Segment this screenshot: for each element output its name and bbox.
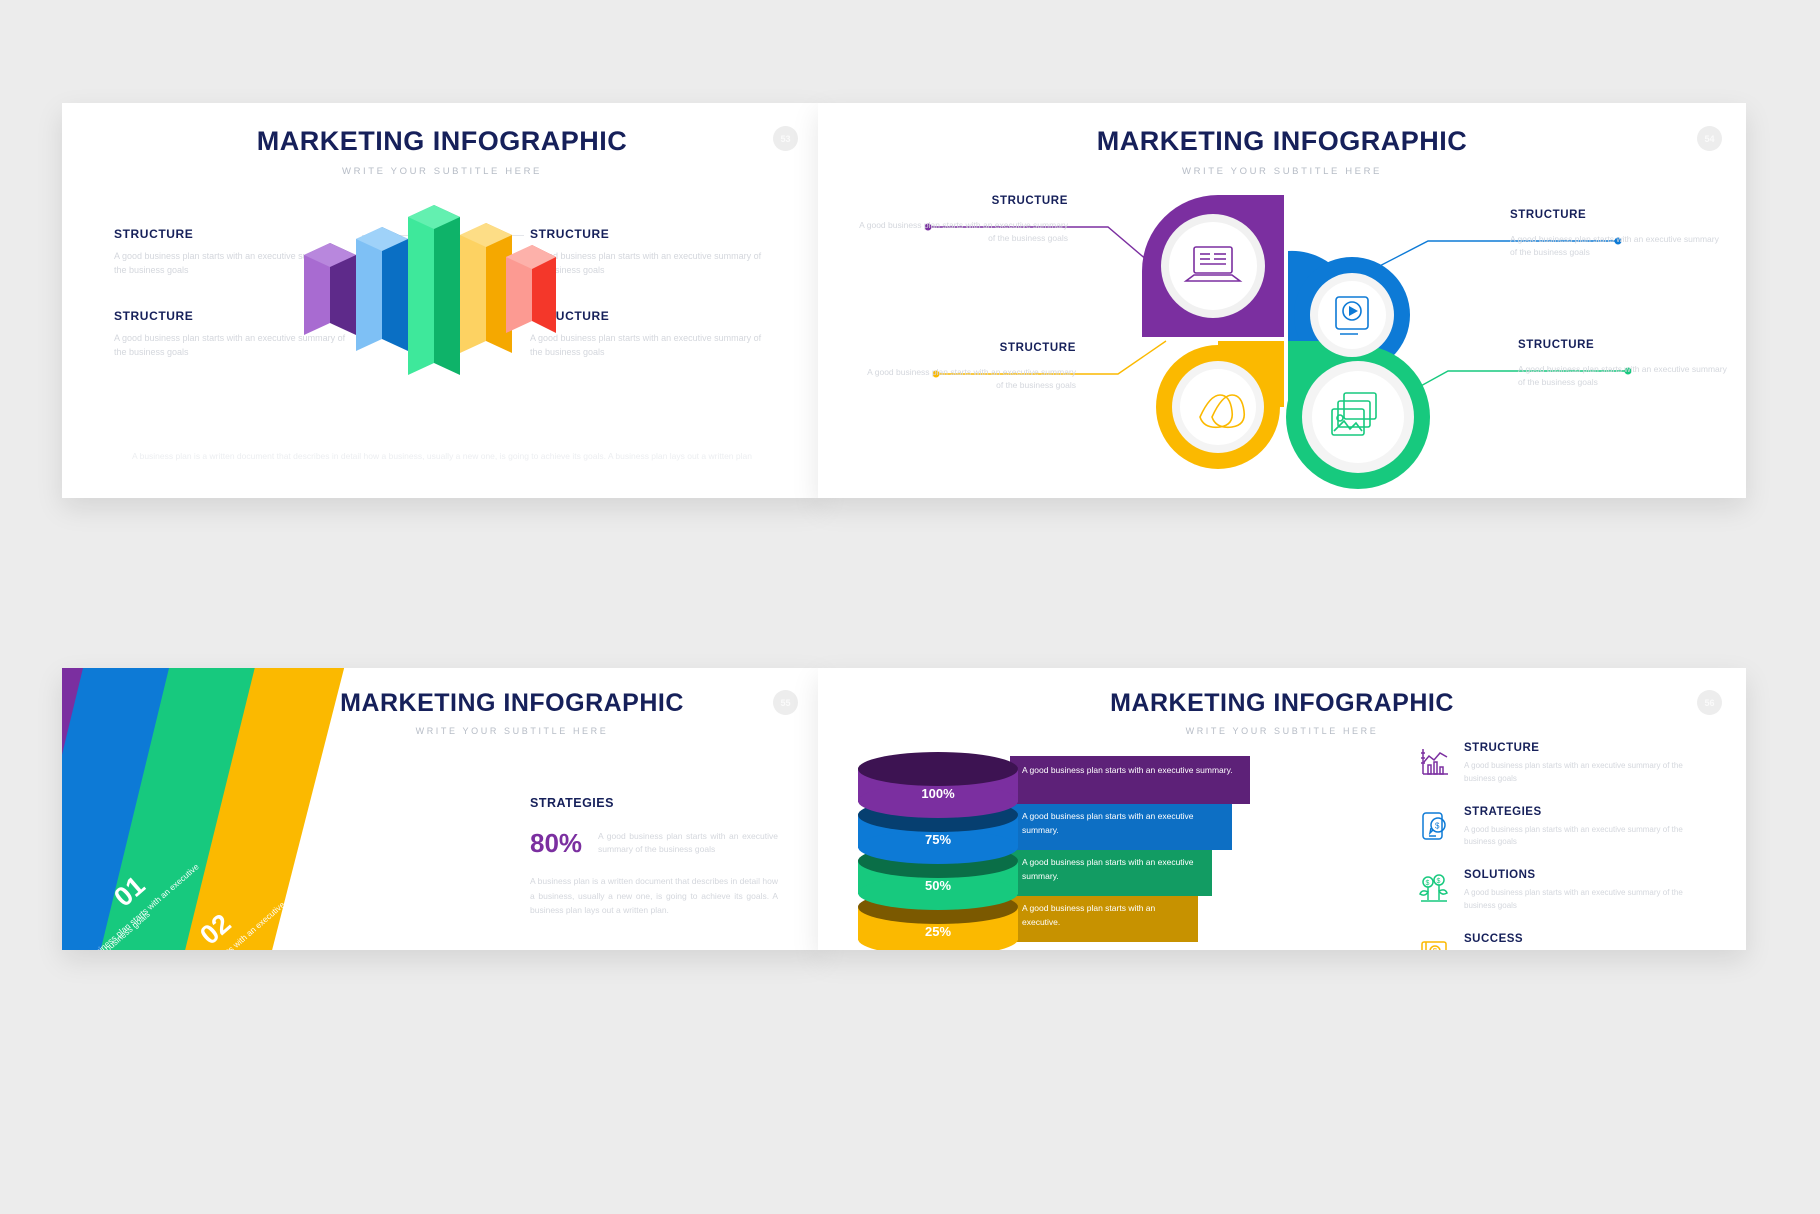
gear-diagram: STRUCTURE A good business plan starts wi… [818, 189, 1746, 498]
gear-item-3[interactable]: STRUCTURE A good business plan starts wi… [858, 342, 1076, 392]
page-title: MARKETING INFOGRAPHIC [818, 689, 1746, 718]
page-subtitle: WRITE YOUR SUBTITLE HERE [818, 166, 1746, 177]
page-number-badge: 55 [773, 690, 798, 715]
percent-value: 80% [530, 830, 582, 856]
svg-text:$: $ [1433, 947, 1438, 950]
page-title: MARKETING INFOGRAPHIC [818, 126, 1746, 157]
svg-text:$: $ [1426, 880, 1430, 887]
gear-item-1[interactable]: STRUCTURE A good business plan starts wi… [850, 195, 1068, 245]
slide-1-footer: A business plan is a written document th… [107, 451, 777, 461]
feature-item-structure[interactable]: STRUCTURE A good business plan starts wi… [1418, 742, 1708, 786]
diagonal-ribbons: 01 02 03 A good business plan starts wit… [62, 668, 502, 950]
page-number-badge: 53 [773, 126, 798, 151]
gear-item-3-label: STRUCTURE [858, 342, 1076, 354]
page-title: MARKETING INFOGRAPHIC [62, 126, 822, 157]
slide-gallery: MARKETING INFOGRAPHIC WRITE YOUR SUBTITL… [0, 0, 1820, 1214]
slide-1[interactable]: MARKETING INFOGRAPHIC WRITE YOUR SUBTITL… [62, 103, 822, 498]
feature-item-solutions[interactable]: $ $ SOLUTIONS A good business plan start… [1418, 869, 1708, 913]
money-plant-icon: $ $ [1418, 873, 1450, 905]
gear-item-2-label: STRUCTURE [1510, 209, 1728, 221]
gear-item-2-desc: A good business plan starts with an exec… [1510, 233, 1728, 259]
strategies-paragraph: A business plan is a written document th… [530, 874, 778, 917]
page-subtitle: WRITE YOUR SUBTITLE HERE [62, 166, 822, 177]
feature-item-solutions-desc: A good business plan starts with an exec… [1464, 887, 1708, 913]
structure-item-2-desc: A good business plan starts with an exec… [530, 250, 770, 278]
bar-cluster-svg [300, 203, 560, 393]
slide-2[interactable]: MARKETING INFOGRAPHIC WRITE YOUR SUBTITL… [818, 103, 1746, 498]
structure-item-4-label: STRUCTURE [530, 309, 770, 323]
gear-item-3-desc: A good business plan starts with an exec… [858, 366, 1076, 392]
structure-item-4-desc: A good business plan starts with an exec… [530, 332, 770, 360]
line-chart-icon [1418, 746, 1450, 778]
page-number-badge: 56 [1697, 690, 1722, 715]
gear-item-4[interactable]: STRUCTURE A good business plan starts wi… [1518, 339, 1736, 389]
cylinder-desc-1: A good business plan starts with an exec… [1010, 756, 1250, 804]
money-note-icon: $ [1418, 937, 1450, 950]
svg-text:$: $ [1435, 821, 1440, 830]
feature-item-strategies-label: STRATEGIES [1464, 806, 1708, 818]
feature-item-success[interactable]: $ SUCCESS A good business plan starts wi… [1418, 933, 1708, 950]
gear-item-2[interactable]: STRUCTURE A good business plan starts wi… [1510, 209, 1728, 259]
ribbons-svg: 01 02 03 A good business plan starts wit… [62, 668, 502, 950]
cylinder-value-2: 75% [858, 832, 1018, 847]
page-subtitle: WRITE YOUR SUBTITLE HERE [818, 726, 1746, 736]
structure-item-4[interactable]: STRUCTURE A good business plan starts wi… [530, 309, 770, 360]
cylinder-value-3: 50% [858, 878, 1018, 893]
feature-item-solutions-label: SOLUTIONS [1464, 869, 1708, 881]
feature-item-structure-label: STRUCTURE [1464, 742, 1708, 754]
structure-item-2[interactable]: STRUCTURE A good business plan starts wi… [530, 227, 770, 278]
cylinder-chart: A good business plan starts with an exec… [858, 752, 1258, 942]
feature-item-strategies[interactable]: $ STRATEGIES A good business plan starts… [1418, 806, 1708, 850]
cylinder-1: 100% [858, 752, 1018, 814]
gear-item-1-desc: A good business plan starts with an exec… [850, 219, 1068, 245]
page-number-badge: 54 [1697, 126, 1722, 151]
slide-3[interactable]: MARKETING INFOGRAPHIC WRITE YOUR SUBTITL… [62, 668, 822, 950]
mobile-money-icon: $ [1418, 810, 1450, 842]
gear-item-4-label: STRUCTURE [1518, 339, 1736, 351]
feature-item-strategies-desc: A good business plan starts with an exec… [1464, 824, 1708, 850]
strategies-panel: STRATEGIES 80% A good business plan star… [530, 796, 778, 918]
cylinder-row-1[interactable]: A good business plan starts with an exec… [858, 752, 1258, 818]
feature-list: STRUCTURE A good business plan starts wi… [1418, 742, 1708, 950]
cylinder-value-4: 25% [858, 924, 1018, 939]
ribbon-03-number: 03 [278, 946, 320, 950]
feature-item-structure-desc: A good business plan starts with an exec… [1464, 760, 1708, 786]
bar-cluster-graphic [300, 203, 560, 403]
slide-4[interactable]: MARKETING INFOGRAPHIC WRITE YOUR SUBTITL… [818, 668, 1746, 950]
strategies-label: STRATEGIES [530, 796, 778, 810]
gear-item-4-desc: A good business plan starts with an exec… [1518, 363, 1736, 389]
percent-desc: A good business plan starts with an exec… [598, 830, 778, 856]
structure-item-2-label: STRUCTURE [530, 227, 770, 241]
feature-item-success-label: SUCCESS [1464, 933, 1708, 945]
gear-petals-svg [1136, 189, 1436, 489]
cylinder-value-1: 100% [858, 786, 1018, 801]
svg-text:$: $ [1437, 878, 1441, 885]
gear-item-1-label: STRUCTURE [850, 195, 1068, 207]
